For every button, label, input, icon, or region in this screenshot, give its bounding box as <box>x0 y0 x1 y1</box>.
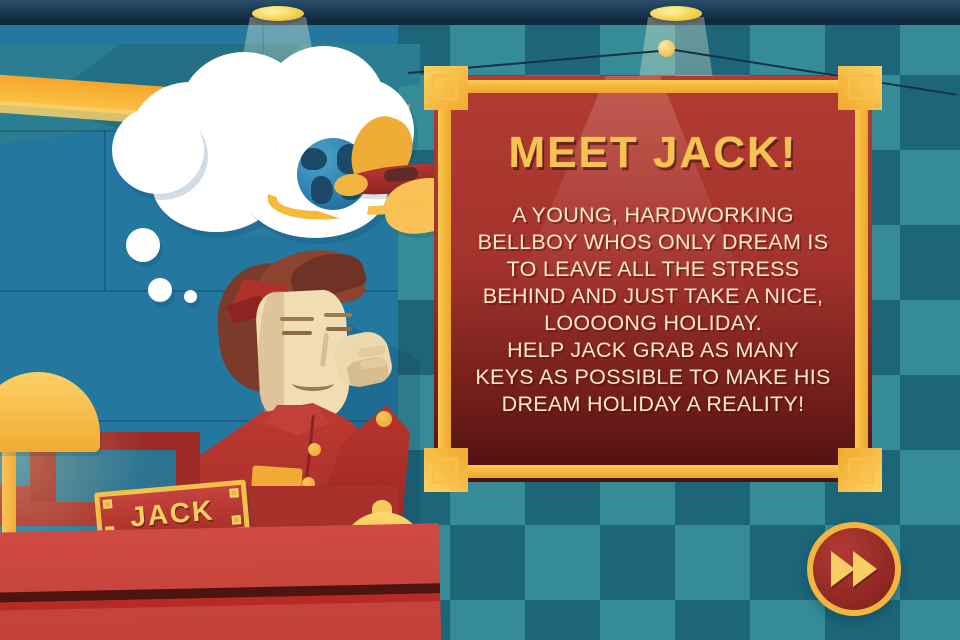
uniform-button <box>308 443 321 456</box>
panel-body-line: LOOOONG HOLIDAY. <box>454 310 852 337</box>
frame-bar-top <box>450 80 856 93</box>
game-screen: JACK MEET JACK! A YOUNG, HARDWORKINGBELL… <box>0 0 960 640</box>
panel-body-text: A YOUNG, HARDWORKINGBELLBOY WHOS ONLY DR… <box>454 202 852 418</box>
reception-desk <box>0 523 441 640</box>
hanging-light-ball <box>658 40 675 57</box>
bubble-lobe <box>112 106 204 194</box>
mouth <box>292 375 334 391</box>
lamp-shade <box>252 6 304 21</box>
eyebrow-left <box>280 317 314 321</box>
eyebrow-right <box>324 313 352 317</box>
panel-body-line: A YOUNG, HARDWORKING <box>454 202 852 229</box>
panel-body-line: DREAM HOLIDAY A REALITY! <box>454 391 852 418</box>
panel-body-line: TO LEAVE ALL THE STRESS <box>454 256 852 283</box>
panel-body-line: HELP JACK GRAB AS MANY <box>454 337 852 364</box>
panel-body-line: BEHIND AND JUST TAKE A NICE, <box>454 283 852 310</box>
next-button[interactable] <box>807 522 901 616</box>
eye-left <box>282 331 312 335</box>
frame-corner-bottom-right <box>826 436 882 492</box>
fast-forward-icon <box>853 551 877 587</box>
top-bar-edge <box>0 22 960 25</box>
thought-bubble <box>112 48 412 243</box>
eye-right <box>326 327 352 331</box>
frame-corner-top-left <box>424 66 480 122</box>
fast-forward-icon <box>831 551 855 587</box>
panel-title: MEET JACK! <box>420 128 886 178</box>
wall-tile-line <box>104 130 106 290</box>
panel-body-line: KEYS AS POSSIBLE TO MAKE HIS <box>454 364 852 391</box>
frame-corner-bottom-left <box>424 436 480 492</box>
lamp-shade <box>650 6 702 21</box>
top-status-bar <box>0 0 960 22</box>
panel-body-line: BELLBOY WHOS ONLY DREAM IS <box>454 229 852 256</box>
cuff-button <box>376 411 392 427</box>
frame-corner-top-right <box>826 66 882 122</box>
frame-bar-bottom <box>450 465 856 478</box>
info-panel: MEET JACK! A YOUNG, HARDWORKINGBELLBOY W… <box>420 62 886 496</box>
